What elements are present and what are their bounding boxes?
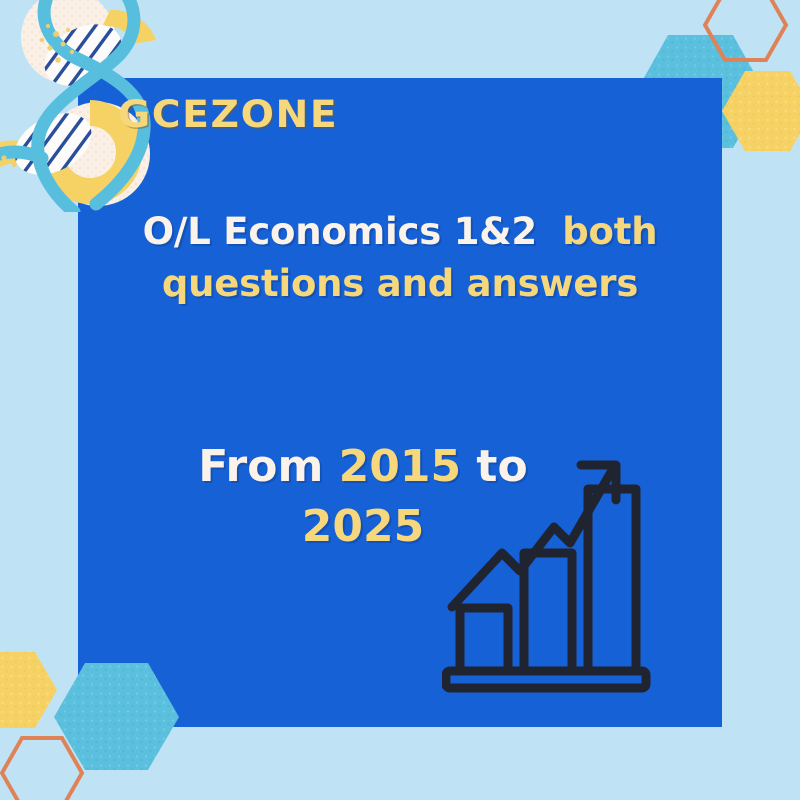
- range-start-year: 2015: [339, 441, 461, 492]
- bar-short: [460, 608, 508, 671]
- headline-both: both: [537, 210, 658, 253]
- poster-canvas: GCEZONE O/L Economics 1&2 both questions…: [0, 0, 800, 800]
- range-line-1: From 2015 to: [78, 437, 648, 497]
- dna-strand-icon: [0, 152, 42, 168]
- yellow-crescent-icon: [102, 10, 156, 44]
- range-line-2: 2025: [78, 497, 648, 557]
- headline-qa: questions and answers: [162, 262, 638, 305]
- bar-medium: [524, 553, 572, 671]
- headline-subject: O/L Economics 1&2: [143, 210, 537, 253]
- brand-logo: GCEZONE: [118, 93, 338, 136]
- range-end-year: 2025: [302, 501, 424, 552]
- yellow-crescent-icon: [0, 140, 24, 178]
- range-to-label: to: [461, 441, 528, 492]
- speckled-circle-icon: [21, 0, 115, 84]
- range-from-label: From: [198, 441, 338, 492]
- headline-line-1: O/L Economics 1&2 both: [78, 206, 722, 258]
- page-title: O/L Economics 1&2 both questions and ans…: [78, 206, 722, 310]
- hexagon-yellow-icon: [0, 652, 57, 728]
- hexagon-yellow-icon: [722, 71, 800, 151]
- dna-speckle-accent: [0, 24, 74, 171]
- hexagon-orange-outline-icon: [705, 0, 786, 60]
- year-range: From 2015 to 2025: [78, 437, 648, 557]
- chart-baseline: [446, 671, 646, 688]
- hexagon-orange-outline-icon: [2, 738, 82, 800]
- headline-line-2: questions and answers: [78, 258, 722, 310]
